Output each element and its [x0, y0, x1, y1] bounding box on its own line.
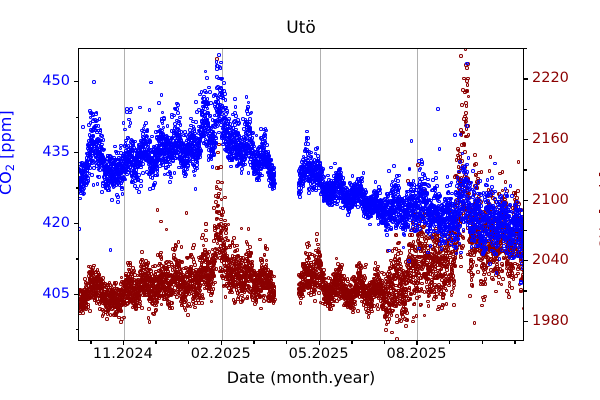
data-point-co2 [78, 227, 81, 231]
data-point-ch4 [265, 247, 269, 251]
data-point-co2 [78, 197, 82, 201]
data-point-ch4 [464, 120, 468, 124]
data-point-ch4 [404, 302, 408, 306]
data-point-ch4 [217, 204, 221, 208]
data-point-ch4 [415, 314, 419, 318]
data-point-ch4 [484, 282, 488, 286]
data-point-ch4 [405, 311, 409, 315]
data-point-ch4 [480, 170, 484, 174]
data-point-ch4 [224, 231, 228, 235]
data-point-ch4 [519, 290, 523, 294]
data-point-ch4 [88, 309, 92, 313]
data-point-ch4 [507, 295, 511, 299]
data-point-ch4 [273, 285, 277, 289]
data-point-ch4 [199, 289, 203, 293]
data-point-ch4 [523, 255, 524, 259]
data-point-ch4 [464, 48, 468, 51]
data-point-ch4 [160, 303, 164, 307]
data-point-ch4 [353, 303, 357, 307]
data-point-ch4 [313, 299, 317, 303]
data-point-ch4 [319, 263, 323, 267]
data-point-ch4 [501, 277, 505, 281]
data-point-ch4 [120, 276, 124, 280]
data-point-ch4 [299, 301, 303, 305]
data-point-ch4 [463, 144, 467, 148]
data-point-ch4 [147, 261, 151, 265]
data-point-ch4 [204, 229, 208, 233]
data-point-ch4 [232, 236, 236, 240]
data-point-ch4 [224, 295, 228, 299]
data-point-ch4 [461, 244, 465, 248]
data-point-ch4 [508, 281, 512, 285]
data-point-ch4 [500, 283, 504, 287]
data-point-ch4 [214, 260, 218, 264]
data-point-ch4 [122, 316, 126, 320]
data-point-ch4 [427, 304, 431, 308]
data-point-ch4 [223, 196, 227, 200]
data-point-ch4 [213, 274, 217, 278]
data-point-ch4 [512, 266, 516, 270]
data-point-ch4 [212, 287, 216, 291]
data-point-co2 [81, 125, 85, 129]
data-point-ch4 [376, 265, 380, 269]
data-point-ch4 [248, 245, 252, 249]
data-point-ch4 [419, 303, 423, 307]
plot-area [78, 48, 524, 341]
data-point-ch4 [180, 245, 184, 249]
data-point-ch4 [202, 297, 206, 301]
data-point-ch4 [445, 289, 449, 293]
data-point-ch4 [466, 77, 470, 81]
data-point-ch4 [523, 247, 524, 251]
data-point-ch4 [454, 256, 458, 260]
data-point-ch4 [474, 162, 478, 166]
data-point-ch4 [467, 133, 471, 137]
data-point-ch4 [472, 273, 476, 277]
data-point-ch4 [132, 269, 136, 273]
data-point-ch4 [516, 189, 520, 193]
data-point-ch4 [489, 155, 493, 159]
data-point-ch4 [258, 238, 262, 242]
data-point-ch4 [364, 276, 368, 280]
data-point-ch4 [217, 192, 221, 196]
data-point-ch4 [114, 281, 118, 285]
data-point-ch4 [220, 214, 224, 218]
data-point-ch4 [353, 300, 357, 304]
data-point-ch4 [318, 253, 322, 257]
data-point-ch4 [410, 233, 414, 237]
data-point-ch4 [395, 337, 399, 341]
data-point-ch4 [427, 294, 431, 298]
data-point-ch4 [473, 321, 477, 325]
data-point-ch4 [340, 263, 344, 267]
data-point-ch4 [384, 328, 388, 332]
data-point-ch4 [81, 311, 85, 315]
data-point-ch4 [262, 299, 266, 303]
data-point-ch4 [186, 313, 190, 317]
data-point-ch4 [413, 302, 417, 306]
data-point-ch4 [170, 306, 174, 310]
data-point-ch4 [147, 307, 151, 311]
data-point-ch4 [452, 284, 456, 288]
data-point-ch4 [391, 309, 395, 313]
data-point-ch4 [488, 169, 492, 173]
data-point-ch4 [235, 244, 239, 248]
data-point-ch4 [445, 302, 449, 306]
data-point-ch4 [364, 263, 368, 267]
data-point-ch4 [240, 227, 244, 231]
data-point-ch4 [119, 309, 123, 313]
data-point-ch4 [464, 111, 468, 115]
data-point-ch4 [471, 285, 475, 289]
data-point-ch4 [408, 286, 412, 290]
data-point-ch4 [395, 234, 399, 238]
data-point-ch4 [152, 312, 156, 316]
data-point-ch4 [160, 257, 164, 261]
data-point-ch4 [173, 247, 177, 251]
data-point-ch4 [442, 293, 446, 297]
data-point-ch4 [301, 295, 305, 299]
data-point-ch4 [259, 307, 263, 311]
data-point-ch4 [92, 264, 96, 268]
data-point-ch4 [230, 291, 234, 295]
data-point-ch4 [159, 220, 163, 224]
data-point-ch4 [140, 306, 144, 310]
data-point-ch4 [411, 320, 415, 324]
data-point-ch4 [261, 258, 265, 262]
data-point-ch4 [434, 296, 438, 300]
data-point-ch4 [180, 260, 184, 264]
data-point-ch4 [316, 243, 320, 247]
data-point-ch4 [501, 269, 505, 273]
chart-title: Utö [78, 18, 524, 38]
data-point-ch4 [213, 281, 217, 285]
data-point-ch4 [409, 297, 413, 301]
data-point-ch4 [504, 180, 508, 184]
data-point-ch4 [501, 264, 505, 268]
data-point-ch4 [363, 266, 367, 270]
data-point-ch4 [204, 238, 208, 242]
data-point-ch4 [466, 89, 470, 93]
data-point-co2 [83, 187, 87, 191]
data-point-ch4 [522, 307, 524, 311]
data-point-ch4 [459, 265, 463, 269]
data-point-ch4 [516, 272, 520, 276]
data-point-ch4 [159, 251, 163, 255]
data-point-ch4 [370, 310, 374, 314]
data-point-ch4 [465, 117, 469, 121]
data-point-ch4 [246, 295, 250, 299]
data-point-ch4 [467, 95, 471, 99]
data-point-ch4 [523, 243, 524, 247]
data-point-ch4 [265, 259, 269, 263]
data-point-ch4 [418, 295, 422, 299]
data-point-ch4 [174, 244, 178, 248]
data-point-ch4 [495, 263, 499, 267]
data-point-ch4 [459, 256, 463, 260]
data-point-ch4 [315, 238, 319, 242]
data-point-ch4 [165, 228, 169, 232]
figure-canvas: Utö 405420435450 CO2 [ppm] 1980204021002… [0, 0, 600, 400]
data-point-ch4 [483, 295, 487, 299]
data-point-ch4 [494, 290, 498, 294]
data-point-ch4 [335, 257, 339, 261]
data-point-ch4 [412, 240, 416, 244]
data-point-ch4 [398, 241, 402, 245]
data-point-ch4 [156, 208, 160, 212]
data-point-ch4 [523, 240, 524, 244]
data-point-ch4 [154, 308, 158, 312]
data-point-ch4 [210, 300, 214, 304]
data-point-ch4 [471, 264, 475, 268]
data-point-ch4 [184, 308, 188, 312]
data-point-ch4 [367, 315, 371, 319]
data-point-ch4 [459, 54, 463, 58]
data-point-ch4 [170, 301, 174, 305]
data-point-ch4 [453, 279, 457, 283]
data-point-ch4 [216, 180, 220, 184]
data-point-ch4 [452, 303, 456, 307]
data-point-ch4 [201, 233, 205, 237]
data-point-ch4 [227, 223, 231, 227]
data-point-ch4 [399, 251, 403, 255]
data-point-ch4 [202, 244, 206, 248]
data-point-ch4 [140, 250, 144, 254]
data-point-ch4 [468, 294, 472, 298]
data-point-ch4 [475, 264, 479, 268]
data-point-ch4 [193, 263, 197, 267]
data-point-ch4 [308, 244, 312, 248]
data-point-ch4 [236, 248, 240, 252]
data-point-ch4 [390, 331, 394, 335]
data-point-ch4 [155, 300, 159, 304]
data-point-ch4 [155, 304, 159, 308]
data-point-ch4 [473, 153, 477, 157]
data-point-ch4 [482, 298, 486, 302]
data-point-ch4 [522, 275, 524, 279]
data-point-ch4 [177, 240, 181, 244]
data-point-ch4 [472, 260, 476, 264]
data-point-ch4 [465, 104, 469, 108]
data-point-ch4 [101, 276, 105, 280]
data-point-ch4 [222, 210, 226, 214]
data-point-ch4 [351, 311, 355, 315]
data-point-ch4 [229, 245, 233, 249]
data-point-ch4 [480, 304, 484, 308]
data-point-ch4 [273, 275, 277, 279]
data-point-ch4 [226, 239, 230, 243]
data-point-ch4 [191, 246, 195, 250]
data-point-ch4 [436, 308, 440, 312]
data-point-ch4 [484, 277, 488, 281]
data-point-ch4 [408, 249, 412, 253]
data-point-ch4 [453, 265, 457, 269]
data-point-ch4 [388, 272, 392, 276]
data-point-ch4 [470, 278, 474, 282]
data-point-ch4 [331, 304, 335, 308]
data-point-ch4 [440, 306, 444, 310]
data-point-ch4 [462, 236, 466, 240]
data-point-ch4 [225, 226, 229, 230]
data-point-ch4 [315, 232, 319, 236]
data-point-ch4 [216, 151, 220, 155]
data-point-ch4 [148, 320, 152, 324]
data-point-ch4 [515, 196, 519, 200]
data-point-ch4 [356, 309, 360, 313]
data-point-ch4 [404, 324, 408, 328]
data-point-co2 [82, 192, 86, 196]
data-point-ch4 [510, 286, 514, 290]
data-point-ch4 [273, 298, 277, 302]
data-point-ch4 [185, 211, 189, 215]
data-point-ch4 [219, 165, 223, 169]
data-point-ch4 [247, 227, 251, 231]
data-point-ch4 [322, 268, 326, 272]
data-point-ch4 [501, 170, 505, 174]
data-point-ch4 [307, 257, 311, 261]
data-point-ch4 [450, 294, 454, 298]
data-point-ch4 [322, 273, 326, 277]
data-point-ch4 [405, 318, 409, 322]
data-point-ch4 [399, 319, 403, 323]
data-point-ch4 [340, 267, 344, 271]
data-point-ch4 [220, 181, 224, 185]
data-point-ch4 [105, 317, 109, 321]
data-point-ch4 [317, 291, 321, 295]
data-point-ch4 [476, 270, 480, 274]
data-point-ch4 [204, 222, 208, 226]
data-point-ch4 [420, 282, 424, 286]
data-point-ch4 [223, 219, 227, 223]
data-point-ch4 [352, 307, 356, 311]
data-point-ch4 [426, 300, 430, 304]
data-point-ch4 [452, 287, 456, 291]
data-point-ch4 [466, 83, 470, 87]
data-point-ch4 [450, 290, 454, 294]
data-point-ch4 [390, 313, 394, 317]
data-point-ch4 [388, 317, 392, 321]
data-point-ch4 [200, 301, 204, 305]
data-point-ch4 [447, 284, 451, 288]
data-point-ch4 [423, 314, 427, 318]
data-point-ch4 [193, 306, 197, 310]
data-point-ch4 [491, 278, 495, 282]
data-point-ch4 [517, 160, 521, 164]
data-point-ch4 [465, 66, 469, 70]
data-point-ch4 [192, 243, 196, 247]
data-point-ch4 [329, 307, 333, 311]
